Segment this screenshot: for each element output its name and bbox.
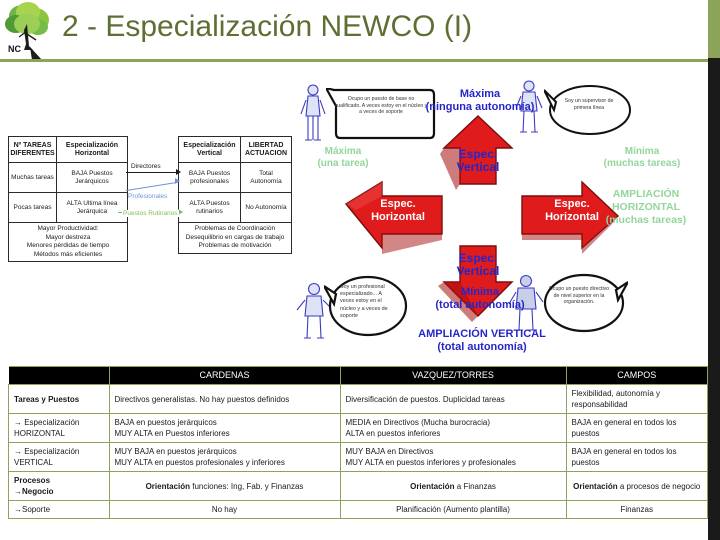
row-label-espec-vertical: → Especialización VERTICAL (9, 443, 110, 472)
diagram-region: Nº TAREAS DIFERENTES Especialización Hor… (0, 64, 708, 360)
page-title: 2 - Especialización NEWCO (I) (62, 10, 472, 44)
slide-header: NC 2 - Especialización NEWCO (I) (0, 0, 720, 62)
left-table-r2c2: ALTA Ultima línea Jerárquica (57, 193, 127, 223)
cell-vertical-cardenas: MUY BAJA en puestos jerárquicos MUY ALTA… (109, 443, 340, 472)
label-ampliacion-horizontal: AMPLIACIÓN HORIZONTAL (muchas tareas) (590, 188, 702, 227)
row-label-soporte: →Soporte (9, 501, 110, 519)
row-label-espec-horizontal: → Especialización HORIZONTAL (9, 414, 110, 443)
horizontal-specialization-table: Nº TAREAS DIFERENTES Especialización Hor… (8, 136, 128, 262)
connector-arrow-rutinarios (178, 209, 183, 215)
cell-negocio-cardenas-rest: funciones: Ing, Fab. y Finanzas (190, 482, 303, 491)
row-label-procesos-negocio: Procesos →Negocio (9, 472, 110, 501)
table-row: → Especialización VERTICAL MUY BAJA en p… (9, 443, 708, 472)
right-table-header-col1: Especialización Vertical (179, 137, 241, 163)
cell-tareas-vazquez: Diversificación de puestos. Duplicidad t… (340, 385, 566, 414)
connector-label-rutinarios: Puestos Rutinarios (122, 210, 179, 217)
cell-horizontal-cardenas: BAJA en puestos jerárquicos MUY ALTA en … (109, 414, 340, 443)
orientacion-prefix: Orientación (573, 482, 617, 491)
table-row: →Soporte No hay Planificación (Aumento p… (9, 501, 708, 519)
table-row: Procesos →Negocio Orientación funciones:… (9, 472, 708, 501)
right-table-r2c1: ALTA Puestos rutinarios (179, 193, 241, 223)
connector-arrow-directores (176, 169, 181, 175)
orientacion-prefix: Orientación (410, 482, 454, 491)
cell-horizontal-vazquez: MEDIA en Directivos (Mucha burocracia) A… (340, 414, 566, 443)
comparison-table: CARDENAS VAZQUEZ/TORRES CAMPOS Tareas y … (8, 366, 708, 519)
header-divider (0, 59, 708, 62)
connector-line-directores (126, 172, 178, 173)
cell-tareas-campos: Flexibilidad, autonomía y responsabilida… (566, 385, 708, 414)
orientacion-prefix: Orientación (146, 482, 190, 491)
arrow-cluster: Ocupo un puesto de base no cualificado. … (290, 74, 708, 360)
col-header-blank (9, 367, 110, 385)
cell-horizontal-campos: BAJA en general en todos los puestos (566, 414, 708, 443)
right-table-header-col2: LIBERTAD ACTUACION (241, 137, 291, 163)
label-maxima-una-tarea: Máxima (una tarea) (306, 146, 380, 170)
right-accent-bar (708, 0, 720, 62)
row-label-tareas-y-puestos: Tareas y Puestos (9, 385, 110, 414)
connector-line-profesionales (126, 182, 178, 191)
cell-tareas-cardenas: Directivos generalistas. No hay puestos … (109, 385, 340, 414)
cell-negocio-vazquez-rest: a Finanzas (455, 482, 496, 491)
table-row: Tareas y Puestos Directivos generalistas… (9, 385, 708, 414)
col-header-vazquez-torres: VAZQUEZ/TORRES (340, 367, 566, 385)
logo-label: NC (8, 44, 21, 54)
col-header-campos: CAMPOS (566, 367, 708, 385)
left-table-r2c1: Pocas tareas (9, 193, 57, 223)
connector-label-directores: Directores (131, 163, 161, 170)
right-table-r2c2: No Autonomía (241, 193, 291, 223)
left-table-header-col2: Especialización Horizontal (57, 137, 127, 163)
connector-label-profesionales: Profesionales (128, 193, 167, 200)
table-row: → Especialización HORIZONTAL BAJA en pue… (9, 414, 708, 443)
connector-arrow-profesionales (175, 178, 180, 184)
cell-vertical-vazquez: MUY BAJA en Directivos MUY ALTA en puest… (340, 443, 566, 472)
cell-negocio-cardenas: Orientación funciones: Ing, Fab. y Finan… (109, 472, 340, 501)
right-table-r1c1: BAJA Puestos profesionales (179, 163, 241, 193)
cell-negocio-vazquez: Orientación a Finanzas (340, 472, 566, 501)
cell-negocio-campos: Orientación a procesos de negocio (566, 472, 708, 501)
cell-negocio-campos-rest: a procesos de negocio (618, 482, 701, 491)
left-table-r1c1: Muchas tareas (9, 163, 57, 193)
label-ampliacion-vertical: AMPLIACIÓN VERTICAL (total autonomía) (382, 328, 582, 354)
right-table-r1c2: Total Autonomía (241, 163, 291, 193)
right-dark-bar (708, 58, 720, 540)
left-table-header-col1: Nº TAREAS DIFERENTES (9, 137, 57, 163)
left-table-footer: Mayor Productividad: Mayor destreza Meno… (9, 223, 127, 261)
table-header-row: CARDENAS VAZQUEZ/TORRES CAMPOS (9, 367, 708, 385)
vertical-specialization-table: Especialización Vertical LIBERTAD ACTUAC… (178, 136, 292, 254)
label-maxima-ninguna-autonomia: Máxima (ninguna autonomía) (408, 88, 552, 114)
cell-soporte-campos: Finanzas (566, 501, 708, 519)
left-table-r1c2: BAJA Puestos Jerárquicos (57, 163, 127, 193)
label-minima-total-autonomia: Mínima (total autonomía) (402, 286, 558, 312)
right-table-footer: Problemas de Coordinación Desequilibrio … (179, 223, 291, 253)
cell-soporte-vazquez: Planificación (Aumento plantilla) (340, 501, 566, 519)
cell-soporte-cardenas: No hay (109, 501, 340, 519)
label-minima-muchas-tareas: Mínima (muchas tareas) (594, 146, 690, 170)
col-header-cardenas: CARDENAS (109, 367, 340, 385)
cell-vertical-campos: BAJA en general en todos los puestos (566, 443, 708, 472)
